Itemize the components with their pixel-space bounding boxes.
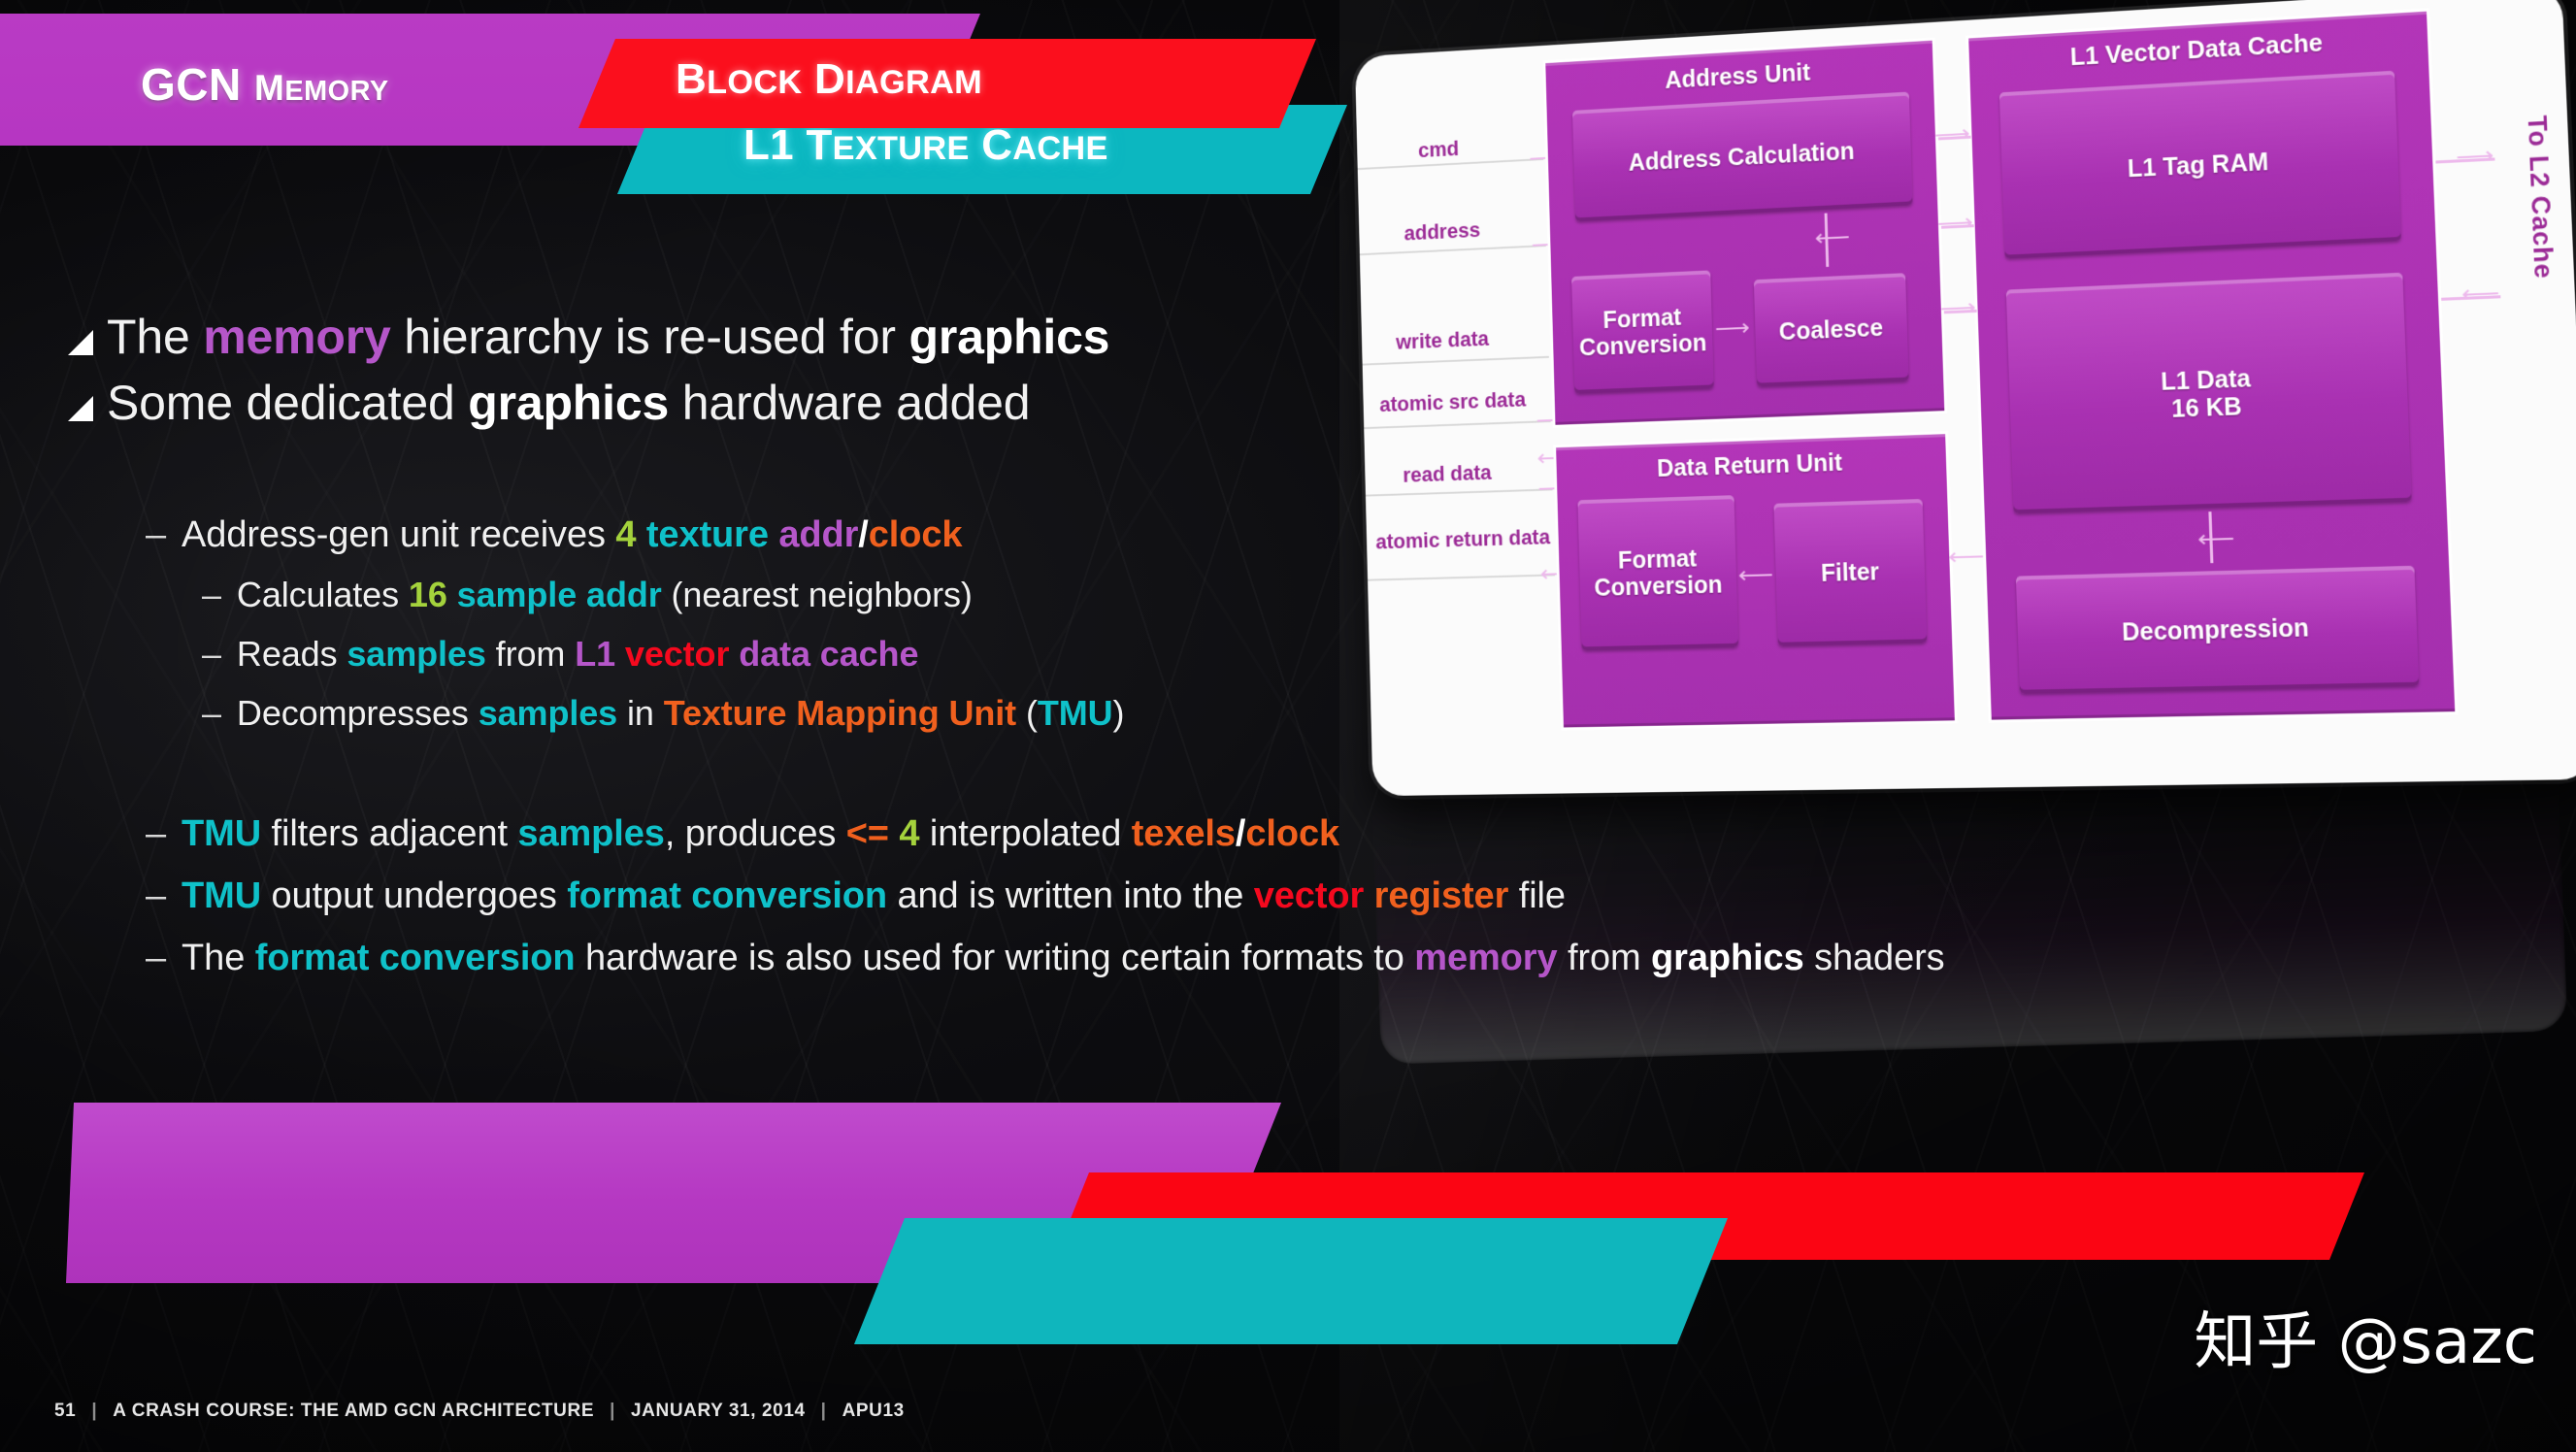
decorative-bar-teal [854,1218,1728,1344]
text-run: <= [846,813,889,854]
text-run: samples [347,634,485,674]
text-run: 16 [409,575,447,614]
text-run: Some dedicated [107,376,468,430]
dash-bullet-icon: – [146,514,166,555]
dash-bullet-icon: – [202,634,221,674]
bullet-level2-2: –TMU output undergoes format conversion … [146,875,1566,917]
subtitle-teal-part-c: CACHE [981,121,1108,169]
text-run: memory [1414,938,1557,978]
text-run: samples [479,693,617,733]
text-run [1364,875,1373,916]
text-run: samples [517,813,664,854]
title-initial: T [806,121,832,169]
bullet-level2-1: –TMU filters adjacent samples, produces … [146,813,1339,855]
dash-bullet-icon: – [146,875,166,916]
text-run: vector [625,634,729,674]
text-run: texture [646,514,769,555]
dash-bullet-icon: – [146,813,166,854]
text-run: ) [1113,693,1125,733]
title-rest: LOCK [707,64,802,101]
text-run: hierarchy is re-used for [391,310,909,364]
text-run: data cache [739,634,918,674]
text-run: TMU [1038,693,1113,733]
text-run [615,634,625,674]
text-run: and is written into the [887,875,1254,916]
text-run: graphics [1651,938,1804,978]
text-run: shaders [1804,938,1945,978]
bullet-level1-0: The memory hierarchy is re-used for grap… [68,309,1109,365]
dash-bullet-icon: – [202,575,221,614]
title-rest: ACHE [1012,130,1107,167]
text-run: format conversion [567,875,887,916]
watermark: 知乎 @sazc [2194,1292,2537,1381]
text-run: clock [869,514,963,555]
slide-canvas: GCN MEMORY BLOCK DIAGRAM L1 TEXTURE CACH… [0,0,2576,1452]
footer-event: APU13 [842,1401,905,1421]
text-run [447,575,457,614]
text-run: ( [1016,693,1038,733]
title-initial: C [981,121,1012,169]
title-initial: D [814,55,845,103]
text-run: The [182,938,255,978]
text-run: hardware added [669,376,1030,430]
footer-separator: | [610,1401,615,1421]
text-run: L1 [575,634,615,674]
text-run: Decompresses [237,693,479,733]
text-run: sample addr [457,575,662,614]
text-run: The [107,310,203,364]
subtitle-block-diagram: BLOCK DIAGRAM [676,55,982,104]
subtitle-red-part-a: BLOCK [676,55,803,103]
text-run [769,514,778,555]
text-run: interpolated [919,813,1131,854]
slide-footer: 51|A CRASH COURSE: THE AMD GCN ARCHITECT… [54,1401,905,1422]
text-run: format conversion [255,938,576,978]
text-run: filters adjacent [261,813,517,854]
bullet-level2-3: –The format conversion hardware is also … [146,938,1945,979]
bullet-level3-1: –Reads samples from L1 vector data cache [202,634,918,675]
title-initial: B [676,55,707,103]
text-run [636,514,645,555]
footer-slide-number: 51 [54,1401,76,1421]
triangle-bullet-icon [68,330,93,355]
text-run: in [617,693,664,733]
text-run: / [1236,813,1245,854]
slide-title-part-b: MEMORY [254,68,389,108]
dash-bullet-icon: – [146,938,166,978]
bullet-level3-0: –Calculates 16 sample addr (nearest neig… [202,575,973,615]
text-run [729,634,739,674]
text-run: texels [1132,813,1236,854]
text-run: clock [1245,813,1339,854]
footer-separator: | [91,1401,97,1421]
text-run: / [858,514,868,555]
bullet-level2-0: –Address-gen unit receives 4 texture add… [146,514,962,556]
subtitle-teal-part-b: TEXTURE [806,121,969,169]
bullet-level1-1: Some dedicated graphics hardware added [68,375,1030,431]
text-run: , produces [665,813,846,854]
bullet-level3-2: –Decompresses samples in Texture Mapping… [202,693,1124,734]
text-run: graphics [908,310,1109,364]
text-run: addr [778,514,858,555]
subtitle-teal-part-a: L1 [743,121,794,169]
text-run: Calculates [237,575,409,614]
text-run: 4 [899,813,919,854]
title-initial: M [254,68,284,108]
text-run: (nearest neighbors) [662,575,973,614]
text-run: from [1558,938,1652,978]
triangle-bullet-icon [68,396,93,421]
text-run: TMU [182,875,261,916]
text-run: Reads [237,634,347,674]
title-banner-red: BLOCK DIAGRAM [578,39,1316,128]
text-run: 4 [615,514,636,555]
text-run: Address-gen unit receives [182,514,615,555]
title-rest: EXTURE [833,130,970,167]
text-run: file [1508,875,1566,916]
text-run: TMU [182,813,261,854]
subtitle-l1-texture-cache: L1 TEXTURE CACHE [743,121,1108,170]
text-run: register [1374,875,1509,916]
title-rest: EMORY [284,76,388,107]
footer-date: JANUARY 31, 2014 [631,1401,806,1421]
text-run: graphics [468,376,669,430]
text-run: memory [203,310,390,364]
text-run: from [486,634,575,674]
slide-title: GCN MEMORY [141,58,389,111]
text-run: hardware is also used for writing certai… [576,938,1415,978]
title-rest: IAGRAM [845,64,982,101]
subtitle-red-part-b: DIAGRAM [814,55,982,103]
slide-title-part-a: GCN [141,59,242,110]
text-run [889,813,899,854]
text-run: vector [1254,875,1364,916]
dash-bullet-icon: – [202,693,221,733]
text-run: output undergoes [261,875,567,916]
footer-deck-title: A CRASH COURSE: THE AMD GCN ARCHITECTURE [113,1401,594,1421]
footer-separator: | [821,1401,827,1421]
text-run: Texture Mapping Unit [664,693,1016,733]
